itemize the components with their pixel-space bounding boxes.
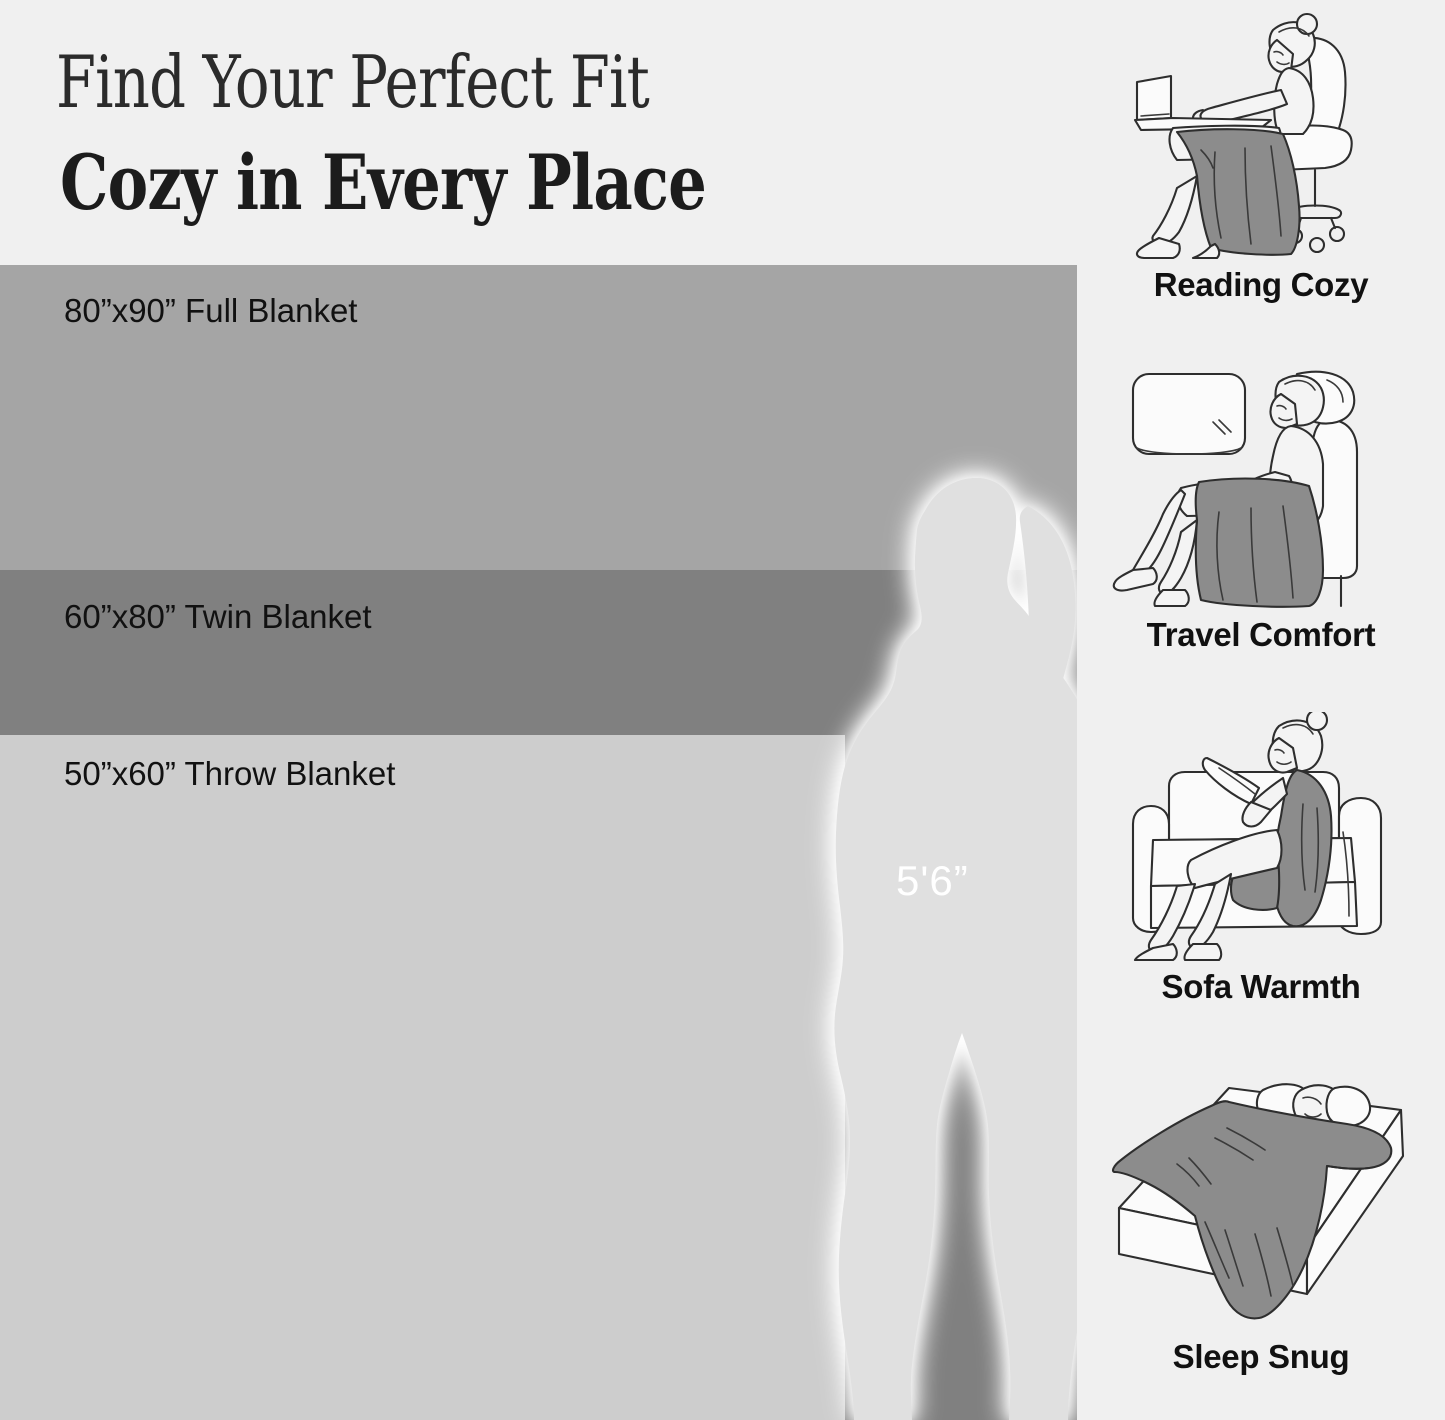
use-case-card-sofa: Sofa Warmth [1077, 712, 1445, 1042]
headline-secondary: Cozy in Every Place [60, 138, 706, 227]
use-case-label-reading: Reading Cozy [1154, 266, 1369, 304]
figure-height-label: 5'6” [896, 857, 969, 905]
bed-sleeping-icon [1111, 1072, 1411, 1332]
use-case-label-sofa: Sofa Warmth [1162, 968, 1361, 1006]
airplane-seat-window-icon [1111, 360, 1411, 610]
header-block: Find Your Perfect Fit Cozy in Every Plac… [0, 0, 1100, 265]
use-case-card-travel: Travel Comfort [1077, 360, 1445, 685]
size-label-twin-blanket: 60”x80” Twin Blanket [64, 598, 372, 636]
size-rect-twin-blanket [0, 570, 845, 735]
headline-primary: Find Your Perfect Fit [56, 40, 649, 124]
size-label-full-blanket: 80”x90” Full Blanket [64, 292, 357, 330]
size-rect-twin-extension-band [845, 570, 1077, 1420]
use-case-card-sleep: Sleep Snug [1077, 1072, 1445, 1417]
reading-chair-laptop-icon [1111, 10, 1411, 260]
sofa-reading-icon [1111, 712, 1411, 962]
infographic-canvas: Find Your Perfect Fit Cozy in Every Plac… [0, 0, 1445, 1420]
size-rect-throw-blanket [0, 735, 845, 1420]
use-case-column: Reading Cozy [1077, 0, 1445, 1420]
use-case-card-reading: Reading Cozy [1077, 10, 1445, 330]
use-case-label-sleep: Sleep Snug [1173, 1338, 1350, 1376]
use-case-label-travel: Travel Comfort [1147, 616, 1376, 654]
size-label-throw-blanket: 50”x60” Throw Blanket [64, 755, 395, 793]
